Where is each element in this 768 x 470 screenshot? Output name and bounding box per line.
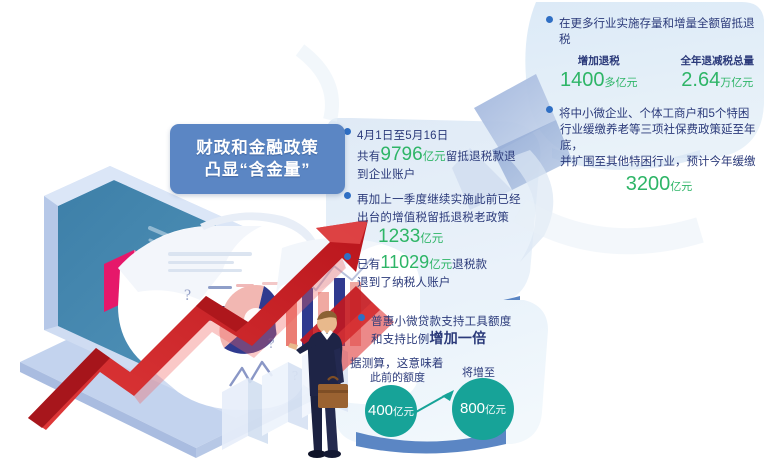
stat-label: 全年退减税总量: [681, 53, 755, 68]
bullet-dot-icon: [344, 253, 351, 260]
unit-label: 多亿元: [605, 77, 638, 89]
bullet-line: 再加上一季度继续实施此前已经: [357, 192, 521, 208]
bullet-dot-icon: [344, 192, 351, 199]
bullet-line: 普惠小微贷款支持工具额度: [371, 314, 511, 330]
left-panel-bullets: 4月1日至5月16日 共有9796亿元留抵退税款退 到企业账户 再加上一季度继续…: [344, 128, 522, 291]
caption-previous-quota: 此前的额度: [370, 369, 425, 385]
bullet-line: 在更多行业实施存量和增量全额留抵退税: [559, 16, 758, 48]
bullet-old-policy: 再加上一季度继续实施此前已经 出台的增值税留抵退税老政策 1233亿元: [344, 192, 522, 247]
value-11029: 11029: [380, 252, 429, 272]
bullet-line-emphasis: 增加一倍: [430, 330, 487, 346]
stat-annual-total: 全年退减税总量 2.64万亿元: [681, 53, 755, 95]
bullet-inclusive-loan: 普惠小微贷款支持工具额度: [358, 314, 544, 330]
bullet-line: 行业缓缴养老等三项社保费政策延至年底，: [560, 122, 758, 154]
page-title-line2: 凸显“含金量”: [205, 159, 311, 181]
unit-label: 万亿元: [720, 77, 753, 89]
top-right-panel: 在更多行业实施存量和增量全额留抵退税 增加退税 1400多亿元 全年退减税总量 …: [546, 16, 758, 199]
circle-previous-quota: 400亿元: [365, 385, 417, 437]
value-1233: 1233: [378, 226, 420, 247]
circle-new-quota: 800亿元: [452, 378, 514, 440]
unit-label: 亿元: [670, 181, 692, 193]
bullet-line: 并扩围至其他特困行业，预计今年缓缴: [560, 154, 758, 170]
value-3200: 3200: [626, 173, 671, 195]
value-800: 800: [460, 400, 485, 417]
value-2-64: 2.64: [681, 69, 720, 91]
bullet-full-refund: 在更多行业实施存量和增量全额留抵退税: [546, 16, 758, 48]
unit-label: 亿元: [423, 151, 446, 163]
unit-label: 亿元: [393, 406, 414, 418]
stat-label: 增加退税: [560, 53, 638, 68]
bullet-taxpayer-account: 已有11029亿元退税款 退到了纳税人账户: [344, 253, 522, 291]
bullet-dot-icon: [358, 314, 365, 321]
infographic-canvas: ? ? ?: [0, 0, 768, 470]
bullet-social-insurance: 将中小微企业、个体工商户和5个特困 行业缓缴养老等三项社保费政策延至年底， 并扩…: [546, 106, 758, 199]
page-title-line1: 财政和金融政策: [196, 137, 319, 159]
svg-text:?: ?: [184, 287, 191, 304]
value-400: 400: [368, 402, 393, 419]
value-1400: 1400: [560, 69, 605, 91]
bullet-line: 4月1日至5月16日: [357, 128, 448, 144]
bullet-line: 将中小微企业、个体工商户和5个特困: [559, 106, 749, 122]
stat-added-refund: 增加退税 1400多亿元: [560, 53, 638, 95]
page-title: 财政和金融政策 凸显“含金量”: [170, 124, 345, 194]
unit-label: 亿元: [429, 259, 452, 271]
bullet-line: 退到了纳税人账户: [357, 277, 451, 289]
lower-panel: 普惠小微贷款支持工具额度 和支持比例增加一倍 据测算，这意味着: [358, 314, 544, 372]
bullet-dot-icon: [546, 106, 553, 113]
value-9796: 9796: [380, 144, 422, 165]
stats-row: 增加退税 1400多亿元 全年退减税总量 2.64万亿元: [546, 48, 758, 95]
bullet-line-pre: 已有: [357, 259, 380, 271]
growth-arrow-icon: [414, 388, 458, 416]
unit-label: 亿元: [420, 233, 443, 245]
bullet-line: 到企业账户: [357, 169, 416, 181]
bullet-dot-icon: [344, 128, 351, 135]
bullet-line-post: 留抵退税款退: [446, 151, 516, 163]
bullet-line-post: 退税款: [452, 259, 487, 271]
bullet-refund-period: 4月1日至5月16日 共有9796亿元留抵退税款退 到企业账户: [344, 128, 522, 183]
bullet-line-pre: 和支持比例: [371, 334, 430, 346]
bullet-line: 出台的增值税留抵退税老政策: [357, 212, 509, 224]
unit-label: 亿元: [485, 404, 506, 416]
bullet-dot-icon: [546, 16, 553, 23]
bullet-line-pre: 共有: [357, 151, 380, 163]
